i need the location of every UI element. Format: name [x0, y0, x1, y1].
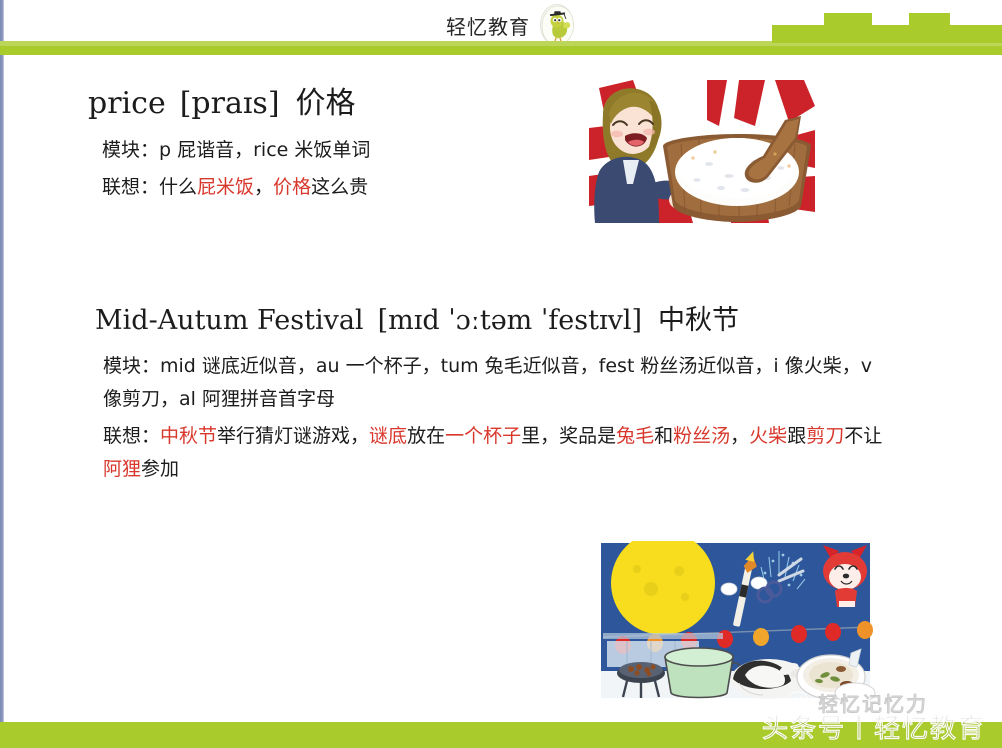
vocab-entry-price: price[praɪs]价格 模块：p 屁谐音，rice 米饭单词 联想：什么屁…	[0, 84, 1002, 204]
module-label: 模块：	[103, 355, 160, 377]
meaning-text: 中秋节	[642, 305, 739, 336]
header-crenel-block-4	[909, 13, 950, 43]
assoc-plain-run: 放在	[407, 425, 445, 447]
word-text: Mid-Autum Festival	[95, 305, 364, 336]
header-crenel-block-1	[772, 25, 824, 43]
assoc-label: 联想：	[102, 176, 159, 198]
assoc-plain-run: 举行猜灯谜游戏，	[217, 425, 369, 447]
assoc-label: 联想：	[103, 425, 160, 447]
girl-with-rice-bowl-illustration	[589, 80, 815, 223]
assoc-highlight-run: 粉丝汤	[673, 425, 730, 447]
header-crenel-block-3	[872, 25, 909, 43]
assoc-plain-run: ，	[254, 176, 273, 198]
assoc-plain-run: 不让	[844, 425, 882, 447]
meaning-text: 价格	[280, 86, 356, 121]
header-crenel-block-5	[950, 25, 1002, 43]
assoc-highlight-run: 中秋节	[160, 425, 217, 447]
module-text: mid 谜底近似音，au 一个杯子，tum 兔毛近似音，fest 粉丝汤近似音，…	[103, 355, 872, 410]
assoc-text: 中秋节举行猜灯谜游戏，谜底放在一个杯子里，奖品是兔毛和粉丝汤，火柴跟剪刀不让阿狸…	[103, 425, 882, 480]
module-row-mid-autumn: 模块：mid 谜底近似音，au 一个杯子，tum 兔毛近似音，fest 粉丝汤近…	[95, 350, 885, 416]
header-title: 轻忆教育	[446, 11, 530, 40]
assoc-plain-run: 和	[654, 425, 673, 447]
assoc-row-price: 联想：什么屁米饭，价格这么贵	[88, 171, 1002, 204]
wechat-icon	[788, 690, 814, 712]
owl-graduate-logo-icon	[540, 4, 574, 46]
vocab-entry-mid-autumn-festival: Mid-Autum Festival[mɪd ˈɔːtəm ˈfestɪvl]中…	[0, 302, 1002, 486]
assoc-highlight-run: 阿狸	[103, 458, 141, 480]
assoc-highlight-run: 剪刀	[806, 425, 844, 447]
slide-content: price[praɪs]价格 模块：p 屁谐音，rice 米饭单词 联想：什么屁…	[0, 56, 1002, 486]
assoc-row-mid-autumn: 联想：中秋节举行猜灯谜游戏，谜底放在一个杯子里，奖品是兔毛和粉丝汤，火柴跟剪刀不…	[95, 420, 885, 486]
slide-canvas: 轻忆教育	[0, 0, 1002, 748]
assoc-highlight-run: 谜底	[369, 425, 407, 447]
phonetic-text: [mɪd ˈɔːtəm ˈfestɪvl]	[364, 305, 642, 336]
assoc-highlight-run: 价格	[273, 176, 311, 198]
assoc-text: 什么屁米饭，价格这么贵	[159, 176, 368, 198]
slide-header: 轻忆教育	[0, 0, 1002, 56]
module-text: p 屁谐音，rice 米饭单词	[159, 139, 370, 161]
word-headline-price: price[praɪs]价格	[88, 84, 1002, 124]
assoc-highlight-run: 屁米饭	[197, 176, 254, 198]
word-headline-mid-autumn: Mid-Autum Festival[mɪd ˈɔːtəm ˈfestɪvl]中…	[95, 302, 1002, 340]
assoc-highlight-run: 兔毛	[616, 425, 654, 447]
assoc-plain-run: 什么	[159, 176, 197, 198]
assoc-plain-run: 跟	[787, 425, 806, 447]
assoc-highlight-run: 一个杯子	[445, 425, 521, 447]
assoc-plain-run: 这么贵	[311, 176, 368, 198]
assoc-plain-run: 里，奖品是	[521, 425, 616, 447]
assoc-plain-run: 参加	[141, 458, 179, 480]
footer-green-bar	[0, 722, 1002, 748]
module-label: 模块：	[102, 139, 159, 161]
module-row-price: 模块：p 屁谐音，rice 米饭单词	[88, 134, 1002, 167]
assoc-highlight-run: 火柴	[749, 425, 787, 447]
assoc-plain-run: ，	[730, 425, 749, 447]
word-text: price	[88, 86, 166, 121]
header-crenel-block-2	[824, 13, 872, 43]
phonetic-text: [praɪs]	[166, 86, 280, 121]
mid-autumn-festival-collage-illustration	[593, 541, 878, 700]
